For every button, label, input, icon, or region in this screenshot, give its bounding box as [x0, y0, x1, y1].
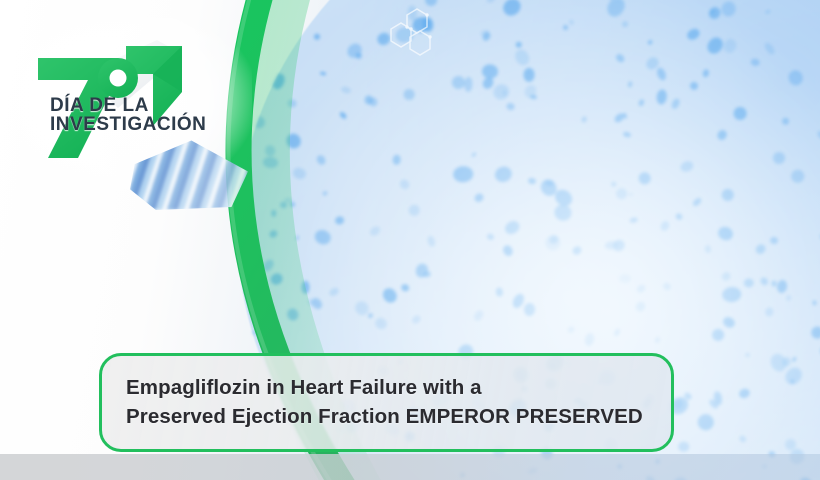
logo-wordmark: DÍA DE LA INVESTIGACIÓN — [50, 96, 206, 135]
video-frame: DÍA DE LA INVESTIGACIÓN Empagliflozin in… — [0, 0, 820, 480]
hexagon-molecule-icon — [384, 3, 446, 65]
logo-line-1: DÍA DE LA — [50, 96, 206, 115]
video-title-banner: Empagliflozin in Heart Failure with a Pr… — [99, 353, 674, 452]
logo-line-2: INVESTIGACIÓN — [50, 115, 206, 134]
title-line-1: Empagliflozin in Heart Failure with a — [126, 374, 647, 402]
bottom-strip — [0, 454, 820, 480]
title-line-2: Preserved Ejection Fraction EMPEROR PRES… — [126, 403, 647, 431]
dia-de-la-investigacion-logo: DÍA DE LA INVESTIGACIÓN — [22, 34, 242, 174]
